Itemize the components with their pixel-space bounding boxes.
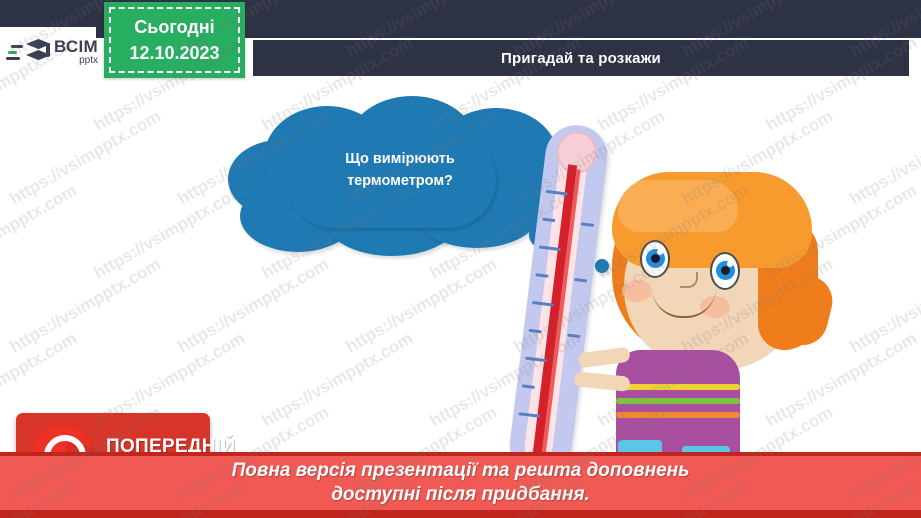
date-badge-date: 12.10.2023 [129,40,219,66]
watermark-text: https://vsimpptx.com [846,107,921,210]
hair-highlight [618,180,738,232]
dress-stripe-green [616,398,740,404]
eye-right [710,252,740,290]
bubble-text: Що вимірюють термометром? [280,148,520,193]
dress-stripe-yellow [616,384,740,390]
slide-title-bar: Пригадай та розкажи [253,40,909,76]
date-badge: Сьогодні 12.10.2023 [104,2,245,78]
dress-stripe-orange [616,412,740,418]
bubble-line-1: Що вимірюють [280,148,520,170]
watermark-text: https://vsimpptx.com [846,255,921,358]
bubble-line-2: термометром? [280,170,520,192]
banner-line-1: Повна версія презентації та решта доповн… [232,459,690,483]
watermark-text: https://vsimpptx.com [90,181,248,284]
logo-suffix: pptx [54,56,98,66]
banner-line-2: доступні після придбання. [331,483,590,507]
bottom-banner: Повна версія презентації та решта доповн… [0,456,921,510]
logo-brand: ВСІМ [54,38,98,55]
girl-character-illustration [588,168,850,468]
watermark-text: https://vsimpptx.com [0,181,81,284]
cheek-left [622,280,652,302]
presentation-slide: ВСІМ pptx Сьогодні 12.10.2023 Пригадай т… [0,0,921,518]
watermark-text: https://vsimpptx.com [342,255,500,358]
eye-left [640,240,670,278]
watermark-text: https://vsimpptx.com [258,329,416,432]
watermark-text: https://vsimpptx.com [6,107,164,210]
watermark-text: https://vsimpptx.com [174,255,332,358]
brand-logo[interactable]: ВСІМ pptx [6,31,98,73]
watermark-text: https://vsimpptx.com [6,255,164,358]
thought-bubble: Що вимірюють термометром? [228,96,568,256]
page-title: Пригадай та розкажи [501,50,661,67]
graduation-cap-icon [26,37,51,67]
speed-lines-icon [6,45,23,60]
logo-text: ВСІМ pptx [54,38,98,66]
date-badge-label: Сьогодні [134,14,214,40]
